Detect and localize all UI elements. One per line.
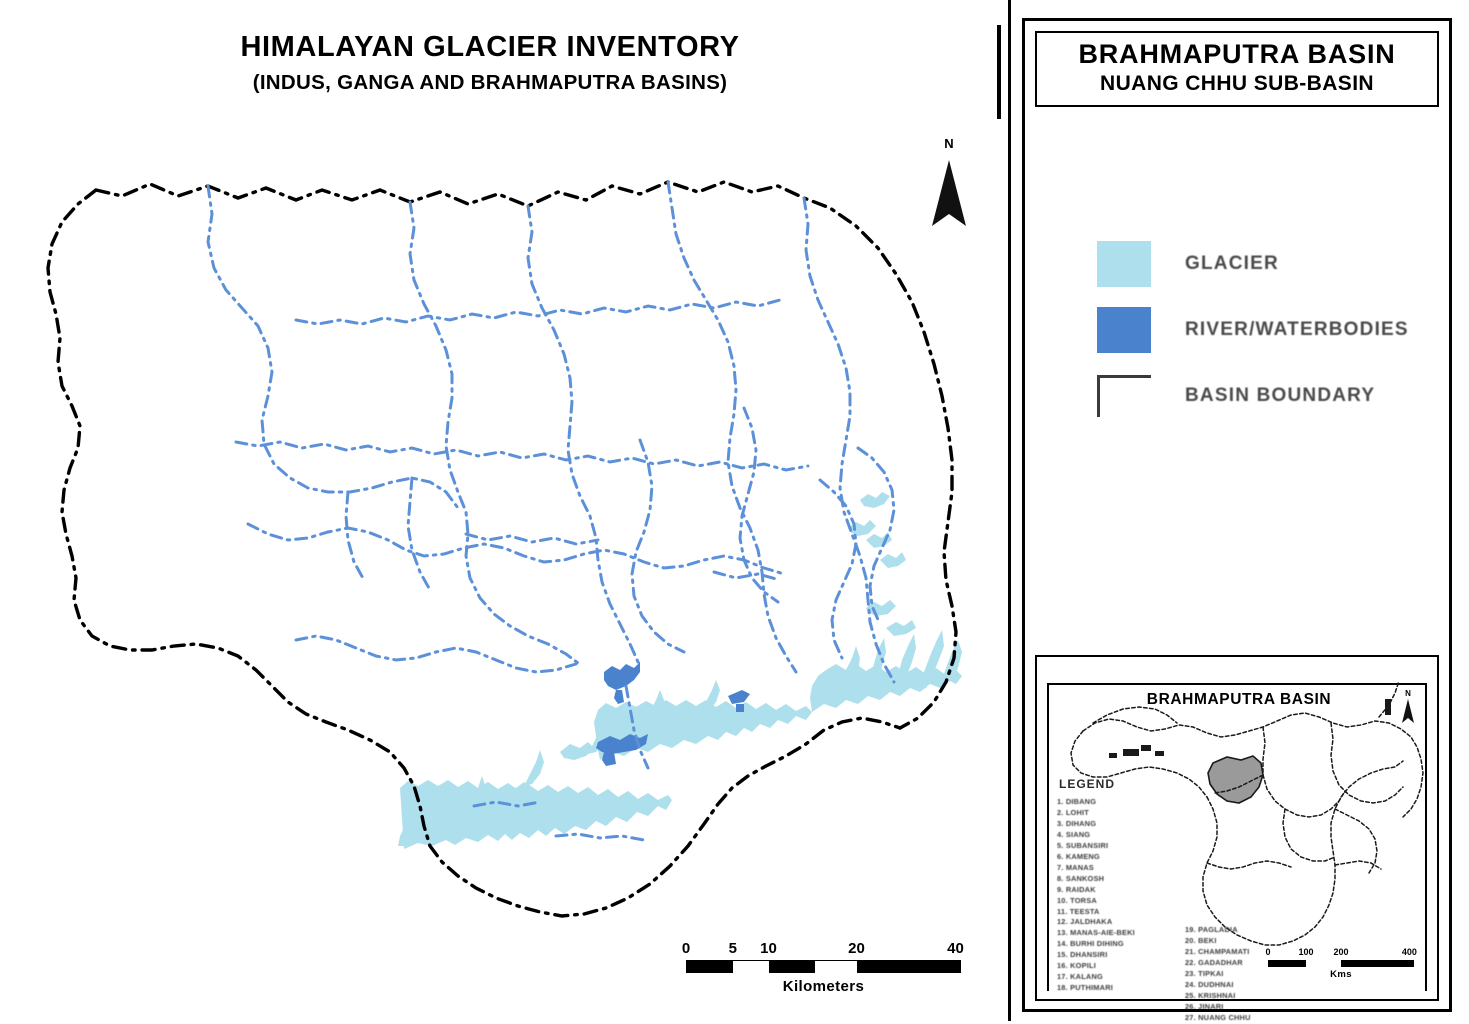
legend-label-basin-boundary: BASIN BOUNDARY	[1185, 385, 1375, 407]
inset-legend-entry: 2. LOHIT	[1057, 808, 1135, 819]
inset-scale-ticks: 0 100 200 400	[1265, 947, 1417, 960]
scale-bar-graphic	[686, 960, 961, 973]
basin-boundary-corner-icon	[1097, 375, 1151, 417]
scale-tick-1: 5	[729, 940, 737, 957]
inset-legend-title: LEGEND	[1059, 777, 1115, 791]
inset-legend-entry: 13. MANAS-AIE-BEKI	[1057, 928, 1135, 939]
legend-items: GLACIER RIVER/WATERBODIES BASIN BOUNDARY	[1097, 231, 1447, 429]
map-page: HIMALAYAN GLACIER INVENTORY (INDUS, GANG…	[0, 0, 1469, 1021]
inset-legend-entry: 12. JALDHAKA	[1057, 917, 1135, 928]
inset-legend-entry: 5. SUBANSIRI	[1057, 841, 1135, 852]
inset-scale-tick-1: 100	[1299, 947, 1314, 957]
panel-separator-rule	[1008, 0, 1011, 1021]
inset-scale-tick-0: 0	[1266, 947, 1271, 957]
inset-legend-entry: 21. CHAMPAMATI	[1185, 947, 1251, 958]
inset-legend-entry: 14. BURHI DIHING	[1057, 939, 1135, 950]
inset-legend-entry: 25. KRISHNAI	[1185, 991, 1251, 1002]
legend-item-river-waterbodies: RIVER/WATERBODIES	[1097, 297, 1447, 363]
inset-legend-entry: 7. MANAS	[1057, 863, 1135, 874]
scale-bar-unit: Kilometers	[686, 978, 961, 995]
inset-scale-unit: Kms	[1265, 969, 1417, 980]
legend-item-basin-boundary: BASIN BOUNDARY	[1097, 363, 1447, 429]
inset-map: BRAHMAPUTRA BASIN N	[1035, 655, 1439, 1001]
inset-scale-bar: 0 100 200 400 Kms	[1265, 947, 1417, 980]
inset-legend-entry: 15. DHANSIRI	[1057, 950, 1135, 961]
inset-legend-entry: 1. DIBANG	[1057, 797, 1135, 808]
inset-scale-tick-3: 400	[1402, 947, 1417, 957]
river-waterbody-swatch-icon	[1097, 307, 1151, 353]
inset-legend-entry: 11. TEESTA	[1057, 907, 1135, 918]
panel-separator-tick	[997, 25, 1001, 119]
inset-legend-entry: 8. SANKOSH	[1057, 874, 1135, 885]
sub-basin-divide-layer	[208, 182, 894, 840]
legend-item-glacier: GLACIER	[1097, 231, 1447, 297]
inset-legend-entry: 20. BEKI	[1185, 936, 1251, 947]
inset-legend-entry: 23. TIPKAI	[1185, 969, 1251, 980]
inset-legend-entry: 19. PAGLADIA	[1185, 925, 1251, 936]
inset-legend-entry: 24. DUDHNAI	[1185, 980, 1251, 991]
main-map-panel: HIMALAYAN GLACIER INVENTORY (INDUS, GANG…	[0, 0, 980, 1021]
inset-legend-entry: 9. RAIDAK	[1057, 885, 1135, 896]
inset-legend-entry: 22. GADADHAR	[1185, 958, 1251, 969]
inset-legend-entry: 4. SIANG	[1057, 830, 1135, 841]
inset-legend-entry: 27. NUANG CHHU	[1185, 1013, 1251, 1024]
legend-header-subbasin: NUANG CHHU SUB-BASIN	[1041, 72, 1433, 96]
inset-legend-column-1: 1. DIBANG2. LOHIT3. DIHANG4. SIANG5. SUB…	[1057, 797, 1135, 994]
inset-legend-entry: 26. JINARI	[1185, 1002, 1251, 1013]
legend-panel: BRAHMAPUTRA BASIN NUANG CHHU SUB-BASIN G…	[1022, 18, 1452, 1012]
scale-bar: 0 5 10 20 40 Kilometers	[686, 940, 961, 995]
scale-tick-3: 20	[848, 940, 865, 957]
inset-legend-entry: 18. PUTHIMARI	[1057, 983, 1135, 994]
scale-tick-4: 40	[947, 940, 964, 957]
inset-legend-entry: 6. KAMENG	[1057, 852, 1135, 863]
scale-bar-ticks: 0 5 10 20 40	[686, 940, 961, 960]
scale-tick-0: 0	[682, 940, 690, 957]
inset-legend-entry: 17. KALANG	[1057, 972, 1135, 983]
inset-legend-entry: 10. TORSA	[1057, 896, 1135, 907]
map-canvas	[0, 0, 980, 1021]
inset-scale-graphic	[1265, 960, 1417, 967]
legend-label-river-waterbodies: RIVER/WATERBODIES	[1185, 319, 1409, 341]
inset-legend-entry: 3. DIHANG	[1057, 819, 1135, 830]
scale-tick-2: 10	[760, 940, 777, 957]
legend-label-glacier: GLACIER	[1185, 253, 1279, 275]
inset-scale-tick-2: 200	[1333, 947, 1348, 957]
inset-legend-column-2: 19. PAGLADIA20. BEKI21. CHAMPAMATI22. GA…	[1185, 925, 1251, 1024]
legend-header-basin: BRAHMAPUTRA BASIN	[1041, 39, 1433, 70]
inset-legend-entry: 16. KOPILI	[1057, 961, 1135, 972]
glacier-swatch-icon	[1097, 241, 1151, 287]
legend-header: BRAHMAPUTRA BASIN NUANG CHHU SUB-BASIN	[1035, 31, 1439, 107]
